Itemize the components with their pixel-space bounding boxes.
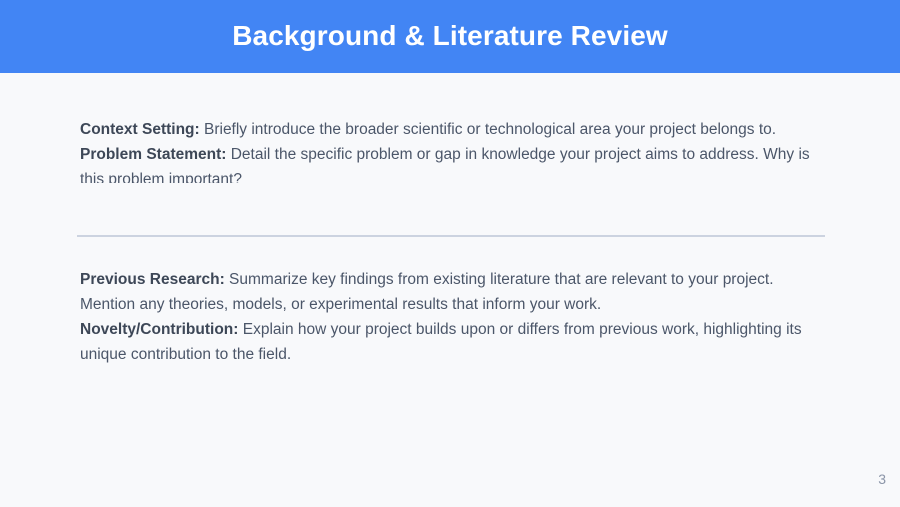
paragraph-previous-research: Previous Research: Summarize key finding… [80,267,826,317]
label-problem-statement: Problem Statement: [80,146,226,163]
label-context-setting: Context Setting: [80,121,200,138]
label-novelty-contribution: Novelty/Contribution: [80,321,238,338]
text-block-context-problem: Context Setting: Briefly introduce the b… [80,117,826,183]
paragraph-problem-statement: Problem Statement: Detail the specific p… [80,142,826,183]
slide-header-bar: Background & Literature Review [0,0,900,73]
label-previous-research: Previous Research: [80,271,225,288]
text-block-research-novelty: Previous Research: Summarize key finding… [80,267,826,377]
text-context-setting: Briefly introduce the broader scientific… [200,121,776,138]
paragraph-context-setting: Context Setting: Briefly introduce the b… [80,117,826,142]
page-number: 3 [878,471,886,487]
page-title: Background & Literature Review [232,21,668,52]
section-divider [77,235,825,237]
slide: Background & Literature Review Context S… [0,0,900,507]
paragraph-novelty-contribution: Novelty/Contribution: Explain how your p… [80,317,826,367]
slide-content: Context Setting: Briefly introduce the b… [0,73,900,507]
